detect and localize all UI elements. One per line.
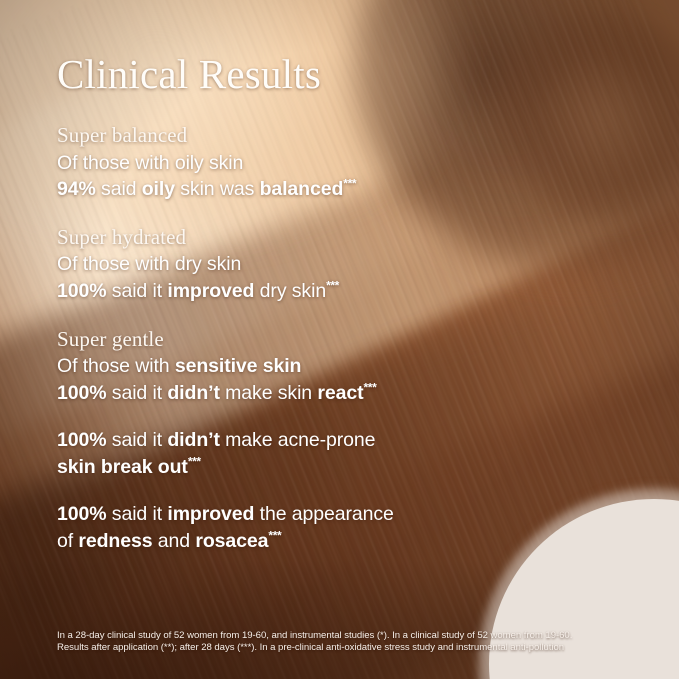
claim-line: 100% said it didn’t make acne-prone bbox=[57, 427, 639, 454]
footnote-marker: *** bbox=[343, 177, 356, 191]
claim-emphasis: oily bbox=[142, 178, 175, 200]
footnote-line-2: Results after application (**); after 28… bbox=[57, 642, 657, 655]
footnote: In a 28-day clinical study of 52 women f… bbox=[57, 630, 657, 655]
claim-line: 94% said oily skin was balanced*** bbox=[57, 176, 639, 203]
claim-emphasis: rosacea bbox=[195, 530, 268, 552]
claim-line: Of those with oily skin bbox=[57, 150, 639, 177]
claim-emphasis: balanced bbox=[260, 178, 344, 200]
footnote-marker: *** bbox=[188, 454, 201, 468]
claim-emphasis: 94% bbox=[57, 178, 96, 200]
claim-heading: Super balanced bbox=[57, 122, 639, 150]
claim-line: 100% said it improved the appearance bbox=[57, 501, 639, 528]
claim-block: 100% said it improved the appearanceof r… bbox=[57, 501, 639, 554]
footnote-marker: *** bbox=[268, 528, 281, 542]
claim-heading: Super gentle bbox=[57, 326, 639, 354]
claim-text: skin was bbox=[175, 178, 260, 200]
claim-text: make skin bbox=[220, 382, 318, 404]
claim-text: said bbox=[96, 178, 142, 200]
claim-text: said it bbox=[106, 382, 167, 404]
claim-line: 100% said it improved dry skin*** bbox=[57, 278, 639, 305]
claim-text: said it bbox=[106, 503, 167, 525]
claim-text: Of those with bbox=[57, 355, 175, 377]
page-title: Clinical Results bbox=[57, 53, 321, 96]
claim-emphasis: redness bbox=[78, 530, 152, 552]
footnote-line-1: In a 28-day clinical study of 52 women f… bbox=[57, 630, 657, 643]
content-layer: Clinical Results Super balancedOf those … bbox=[0, 0, 679, 679]
claim-heading: Super hydrated bbox=[57, 224, 639, 252]
claim-emphasis: 100% bbox=[57, 429, 106, 451]
claim-emphasis: react bbox=[317, 382, 363, 404]
claim-text: said it bbox=[106, 429, 167, 451]
claim-emphasis: improved bbox=[167, 280, 254, 302]
claim-line: Of those with dry skin bbox=[57, 251, 639, 278]
claim-emphasis: 100% bbox=[57, 503, 106, 525]
claim-line: of redness and rosacea*** bbox=[57, 528, 639, 555]
clinical-results-card: Clinical Results Super balancedOf those … bbox=[0, 0, 679, 679]
claim-text: of bbox=[57, 530, 78, 552]
claim-line: 100% said it didn’t make skin react*** bbox=[57, 380, 639, 407]
claim-block: Super hydratedOf those with dry skin100%… bbox=[57, 224, 639, 305]
claim-emphasis: didn’t bbox=[167, 382, 219, 404]
claims-list: Super balancedOf those with oily skin94%… bbox=[57, 122, 639, 554]
claim-block: 100% said it didn’t make acne-proneskin … bbox=[57, 427, 639, 480]
claim-text: the appearance bbox=[254, 503, 393, 525]
claim-line: Of those with sensitive skin bbox=[57, 353, 639, 380]
claim-emphasis: 100% bbox=[57, 280, 106, 302]
claim-line: skin break out*** bbox=[57, 454, 639, 481]
claim-block: Super balancedOf those with oily skin94%… bbox=[57, 122, 639, 203]
claim-emphasis: skin break out bbox=[57, 456, 188, 478]
claim-text: make acne-prone bbox=[220, 429, 376, 451]
claim-text: said it bbox=[106, 280, 167, 302]
claim-emphasis: sensitive skin bbox=[175, 355, 302, 377]
claim-emphasis: improved bbox=[167, 503, 254, 525]
claim-text: Of those with dry skin bbox=[57, 253, 241, 275]
claim-block: Super gentleOf those with sensitive skin… bbox=[57, 326, 639, 407]
footnote-marker: *** bbox=[363, 380, 376, 394]
claim-emphasis: 100% bbox=[57, 382, 106, 404]
footnote-marker: *** bbox=[326, 278, 339, 292]
claim-text: Of those with oily skin bbox=[57, 152, 243, 174]
claim-emphasis: didn’t bbox=[167, 429, 219, 451]
claim-text: and bbox=[152, 530, 195, 552]
claim-text: dry skin bbox=[254, 280, 326, 302]
